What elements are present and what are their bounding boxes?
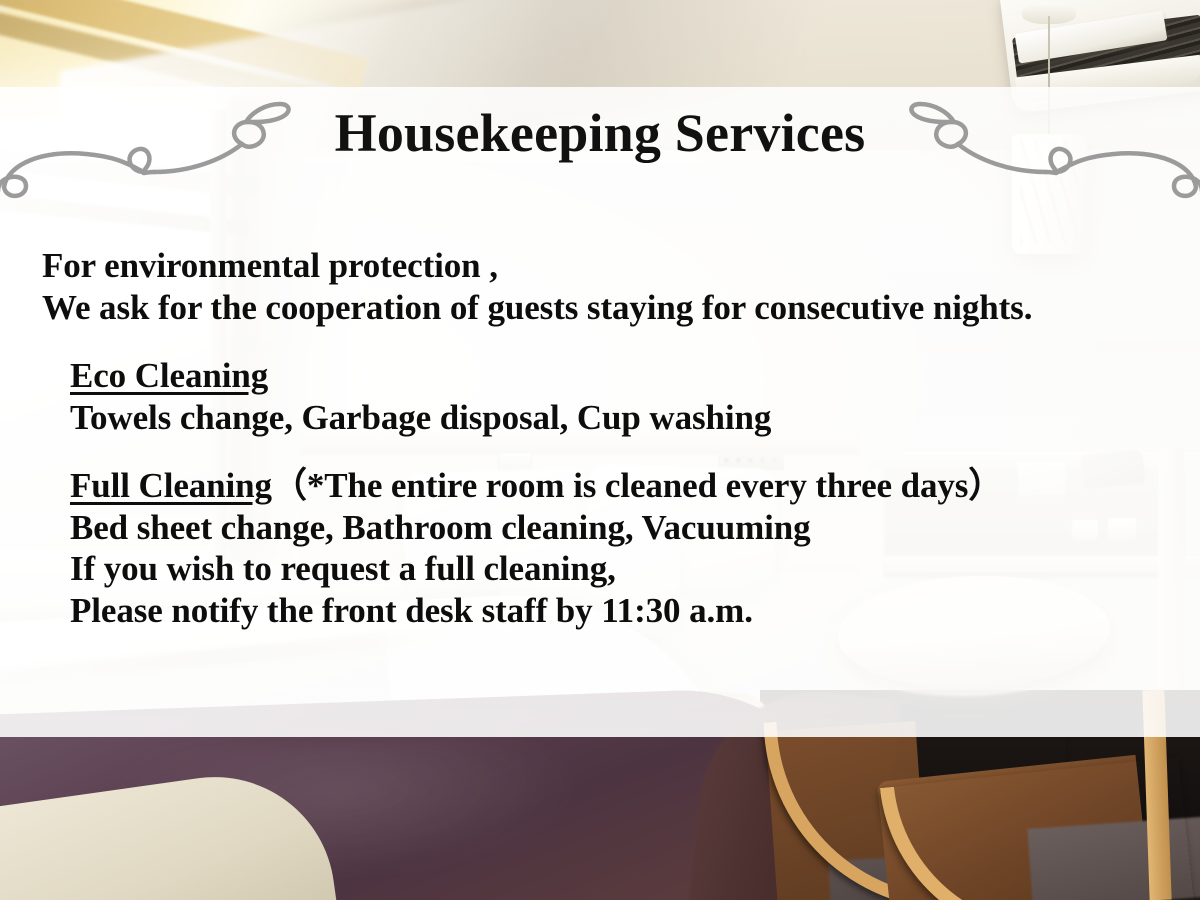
full-cleaning-heading: Full Cleaning（*The entire room is cleane… bbox=[42, 465, 1032, 507]
body-copy: For environmental protection , We ask fo… bbox=[42, 245, 1032, 631]
full-cleaning-note: （*The entire room is cleaned every three… bbox=[272, 466, 1003, 505]
eco-cleaning-services: Towels change, Garbage disposal, Cup was… bbox=[42, 397, 1032, 439]
intro-line-1: For environmental protection , bbox=[42, 245, 1032, 287]
full-cleaning-heading-text: Full Cleaning bbox=[70, 466, 272, 505]
full-cleaning-deadline-line: Please notify the front desk staff by 11… bbox=[42, 590, 1032, 632]
full-cleaning-services: Bed sheet change, Bathroom cleaning, Vac… bbox=[42, 507, 1032, 549]
slide-content: Housekeeping Services For environmental … bbox=[0, 0, 1200, 900]
intro-line-2: We ask for the cooperation of guests sta… bbox=[42, 287, 1032, 329]
full-cleaning-request-line: If you wish to request a full cleaning, bbox=[42, 548, 1032, 590]
spacer-1 bbox=[42, 328, 1032, 355]
slide-canvas: Housekeeping Services For environmental … bbox=[0, 0, 1200, 900]
spacer-2 bbox=[42, 438, 1032, 465]
eco-cleaning-heading: Eco Cleaning bbox=[42, 355, 1032, 397]
eco-cleaning-heading-text: Eco Cleaning bbox=[70, 356, 268, 395]
page-title: Housekeeping Services bbox=[0, 103, 1200, 163]
